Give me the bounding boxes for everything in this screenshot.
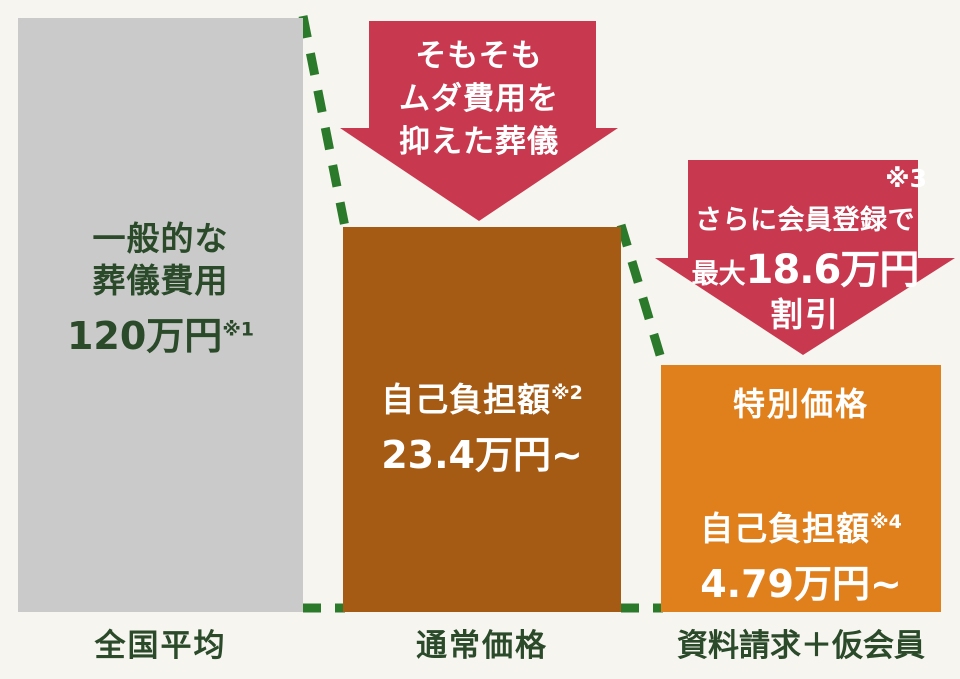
bar-national-title: 一般的な 葬儀費用	[18, 218, 303, 302]
bar-special-amount: 4.79万円~	[661, 562, 941, 608]
bar-national-amount: 120万円	[67, 314, 222, 358]
footnote-marker-2: ※2	[551, 382, 583, 404]
callout-discount-line1: さらに会員登録で	[655, 198, 955, 237]
callout-discount-line3: 割引	[655, 288, 955, 336]
bar-special-price: 特別価格 自己負担額※4 4.79万円~	[661, 365, 941, 612]
callout-member-discount: ※3 さらに会員登録で 最大18.6万円 割引	[655, 160, 955, 355]
bar-national-amount-row: 120万円※1	[18, 314, 303, 360]
cost-comparison-chart: 一般的な 葬儀費用 120万円※1 自己負担額※2 23.4万円~ 特別価格 自…	[0, 0, 960, 679]
callout-discount-suffix: 万円	[840, 247, 918, 293]
bar-national-average: 一般的な 葬儀費用 120万円※1	[18, 18, 303, 612]
bar-special-content: 特別価格 自己負担額※4 4.79万円~	[661, 385, 941, 607]
bar-special-title-row: 自己負担額※4	[661, 465, 941, 549]
footnote-marker-4: ※4	[870, 511, 902, 533]
bar-special-heading: 特別価格	[661, 385, 941, 423]
axis-label-special-price: 資料請求＋仮会員	[655, 620, 947, 665]
dash-line-national-to-regular	[303, 16, 345, 227]
bar-national-content: 一般的な 葬儀費用 120万円※1	[18, 218, 303, 360]
callout-discount-line2: 最大18.6万円	[655, 237, 955, 295]
callout-waste-reduction: そもそも ムダ費用を 抑えた葬儀	[340, 21, 618, 221]
bar-regular-title: 自己負担額	[381, 380, 551, 419]
callout-discount-value: 18.6	[746, 247, 841, 293]
bar-regular-content: 自己負担額※2 23.4万円~	[343, 337, 621, 479]
bar-regular-price: 自己負担額※2 23.4万円~	[343, 227, 621, 612]
axis-label-national-average: 全国平均	[18, 620, 303, 665]
footnote-marker-3: ※3	[655, 164, 927, 193]
footnote-marker-1: ※1	[222, 319, 254, 341]
bar-regular-amount: 23.4万円~	[343, 433, 621, 479]
callout-waste-text: そもそも ムダ費用を 抑えた葬儀	[340, 35, 618, 163]
axis-label-regular-price: 通常価格	[343, 620, 621, 665]
bar-special-title: 自己負担額	[700, 509, 870, 548]
bar-special-subblock: 自己負担額※4 4.79万円~	[661, 465, 941, 607]
callout-discount-prefix: 最大	[692, 259, 746, 290]
bar-regular-title-row: 自己負担額※2	[343, 337, 621, 421]
